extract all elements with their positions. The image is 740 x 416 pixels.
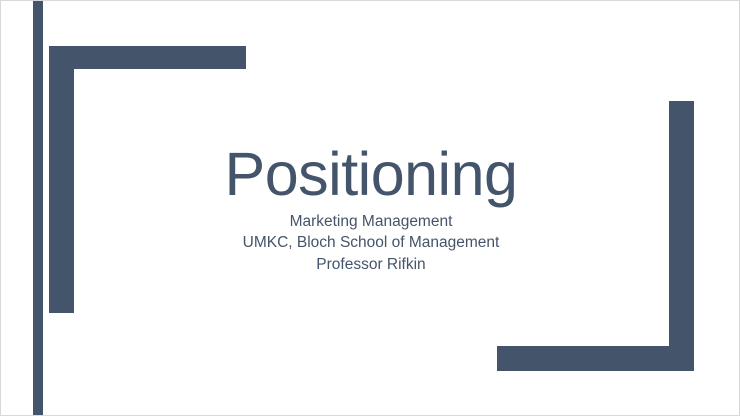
- left-accent-bar: [33, 1, 43, 416]
- top-left-bracket-vertical: [49, 46, 74, 313]
- slide-subtitle-line-1: Marketing Management: [243, 211, 500, 232]
- slide-subtitle-line-2: UMKC, Bloch School of Management: [243, 232, 500, 253]
- title-slide: Positioning Marketing Management UMKC, B…: [0, 0, 740, 416]
- top-left-bracket-horizontal: [49, 46, 246, 69]
- slide-title: Positioning: [225, 143, 518, 205]
- slide-subtitle: Marketing Management UMKC, Bloch School …: [243, 211, 500, 275]
- slide-subtitle-line-3: Professor Rifkin: [243, 254, 500, 275]
- bottom-right-bracket-horizontal: [497, 346, 694, 371]
- bottom-right-bracket-vertical: [669, 101, 694, 371]
